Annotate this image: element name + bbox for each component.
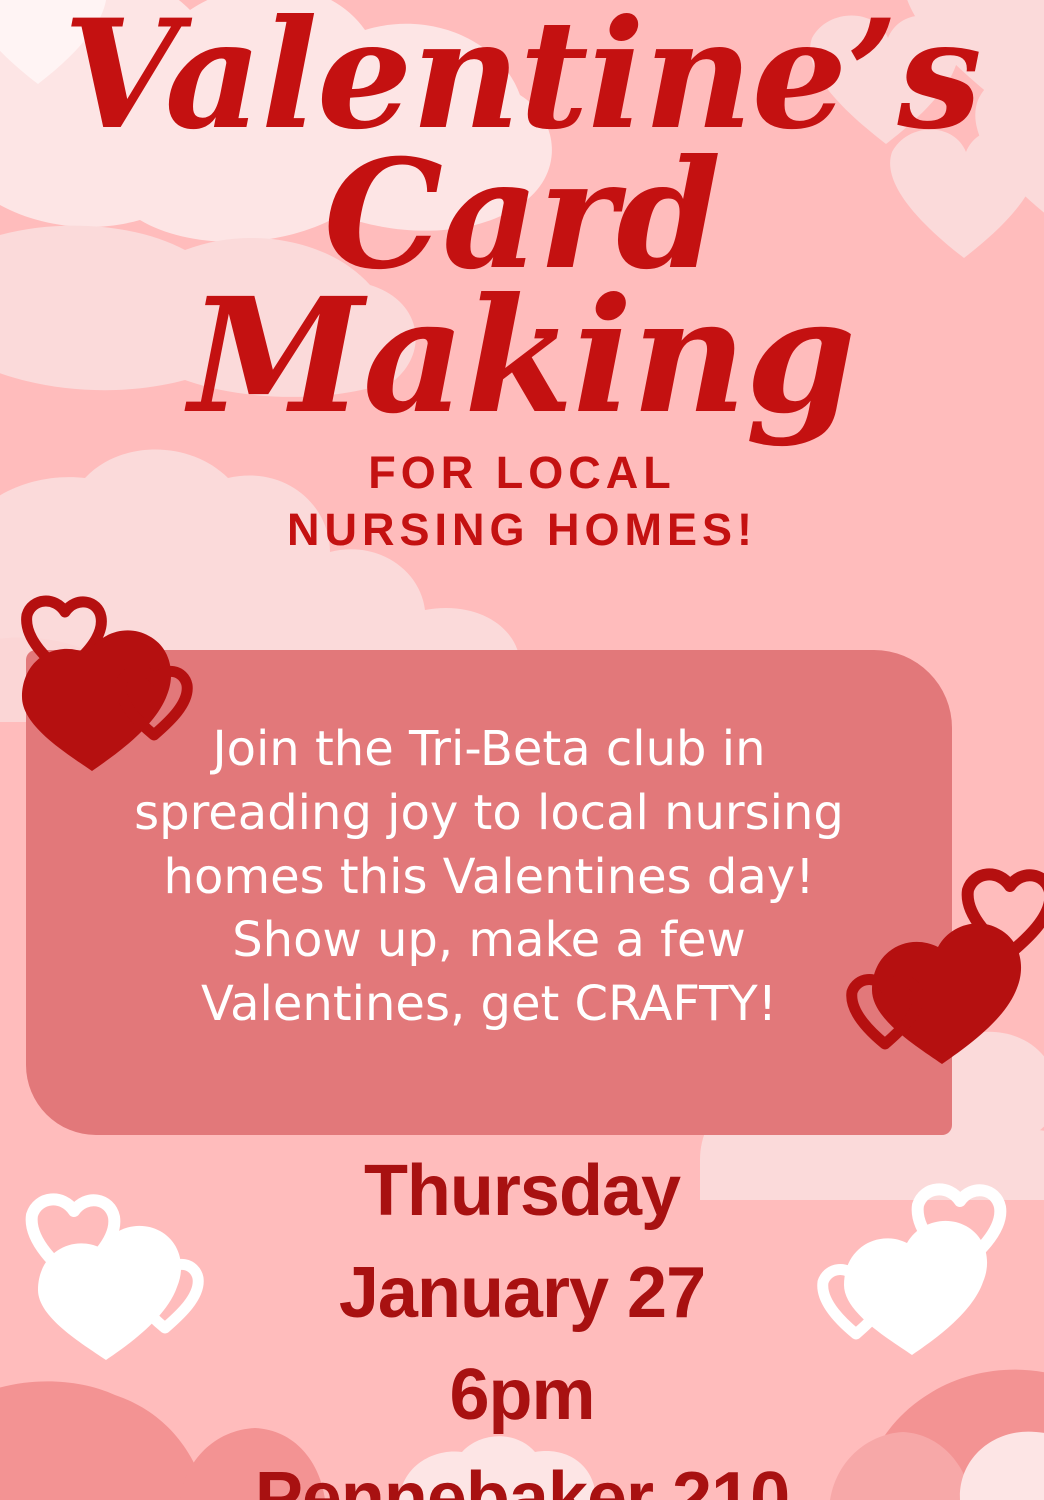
body-line-3: homes this Valentines day! — [26, 846, 952, 910]
event-day: Thursday — [0, 1140, 1044, 1242]
body-line-2: spreading joy to local nursing — [26, 782, 952, 846]
body-line-4: Show up, make a few — [26, 909, 952, 973]
event-date: January 27 — [0, 1242, 1044, 1344]
outline-heart-icon-right-top — [968, 874, 1044, 954]
title-line-3: Making — [0, 284, 1044, 429]
subtitle-block: FOR LOCAL NURSING HOMES! — [0, 445, 1044, 558]
event-details-block: Thursday January 27 6pm Pennebaker 210 — [0, 1140, 1044, 1500]
event-location: Pennebaker 210 — [0, 1447, 1044, 1500]
title-line-1: Valentine’s — [0, 6, 1044, 144]
body-line-1: Join the Tri-Beta club in — [26, 718, 952, 782]
subtitle-line-1: FOR LOCAL — [0, 445, 1044, 502]
subtitle-line-2: NURSING HOMES! — [0, 502, 1044, 559]
headline-block: Valentine’s Card Making FOR LOCAL NURSIN… — [0, 0, 1044, 559]
body-line-5: Valentines, get CRAFTY! — [26, 973, 952, 1037]
valentines-card-making-poster: Valentine’s Card Making FOR LOCAL NURSIN… — [0, 0, 1044, 1500]
event-time: 6pm — [0, 1344, 1044, 1446]
body-text-block: Join the Tri-Beta club in spreading joy … — [26, 718, 952, 1037]
